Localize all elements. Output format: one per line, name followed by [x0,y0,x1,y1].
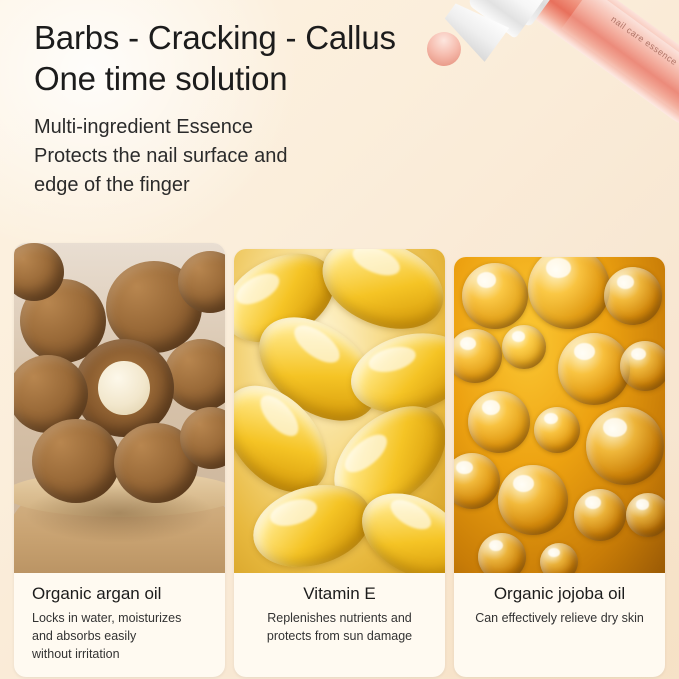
ingredient-card: Vitamin E Replenishes nutrients and prot… [234,249,445,677]
oil-bubble [620,341,665,391]
oil-bubble [454,453,500,509]
oil-bubble [586,407,664,485]
oil-bubble [534,407,580,453]
oil-bubble [498,465,568,535]
oil-bubble [528,257,610,329]
ingredient-card-text: Vitamin E Replenishes nutrients and prot… [234,573,445,659]
subheadline-block: Multi-ingredient Essence Protects the na… [34,113,554,200]
ingredient-description-line-1: Locks in water, moisturizes [32,609,217,627]
subheadline-line-1: Multi-ingredient Essence [34,113,554,142]
oil-bubble [454,329,502,383]
ingredient-description-line-2: and absorbs easily [32,627,217,645]
macadamia-nuts-photo [14,243,225,573]
pen-label-text: nail care essence [592,2,679,80]
ingredient-title: Organic jojoba oil [462,583,657,605]
ingredient-description-line-2: protects from sun damage [242,627,437,645]
product-infographic: Barbs - Cracking - Callus One time solut… [0,0,679,679]
oil-bubble [626,493,665,537]
pen-barrel-label [561,0,679,117]
headline-line-1: Barbs - Cracking - Callus [34,18,554,58]
oil-bubble [604,267,662,325]
ingredient-card-text: Organic argan oil Locks in water, moistu… [14,573,225,677]
subheadline-line-2: Protects the nail surface and [34,142,554,171]
oil-bubble [502,325,546,369]
header-block: Barbs - Cracking - Callus One time solut… [34,18,554,200]
nuts-photo-background [14,243,225,573]
jojoba-oil-bubbles-photo [454,257,665,573]
ingredient-card-text: Organic jojoba oil Can effectively relie… [454,573,665,641]
oil-bubble [468,391,530,453]
ingredient-description-line-3: without irritation [32,645,217,663]
nut [164,339,225,411]
headline-line-2: One time solution [34,58,554,100]
ingredient-cards: Organic argan oil Locks in water, moistu… [14,243,666,677]
oil-bubble [540,543,578,573]
ingredient-card: Organic jojoba oil Can effectively relie… [454,257,665,677]
oil-bubble [478,533,526,573]
ingredient-title: Vitamin E [242,583,437,605]
ingredient-description-line-1: Can effectively relieve dry skin [462,609,657,627]
vitamin-e-softgels-photo [234,249,445,573]
ingredient-description-line-1: Replenishes nutrients and [242,609,437,627]
ingredient-card: Organic argan oil Locks in water, moistu… [14,243,225,677]
bubbles-photo-background [454,257,665,573]
softgel-photo-background [234,249,445,573]
subheadline-line-3: edge of the finger [34,171,554,200]
oil-bubble [574,489,626,541]
ingredient-title: Organic argan oil [32,583,217,605]
nut [32,419,120,503]
oil-bubble [462,263,528,329]
